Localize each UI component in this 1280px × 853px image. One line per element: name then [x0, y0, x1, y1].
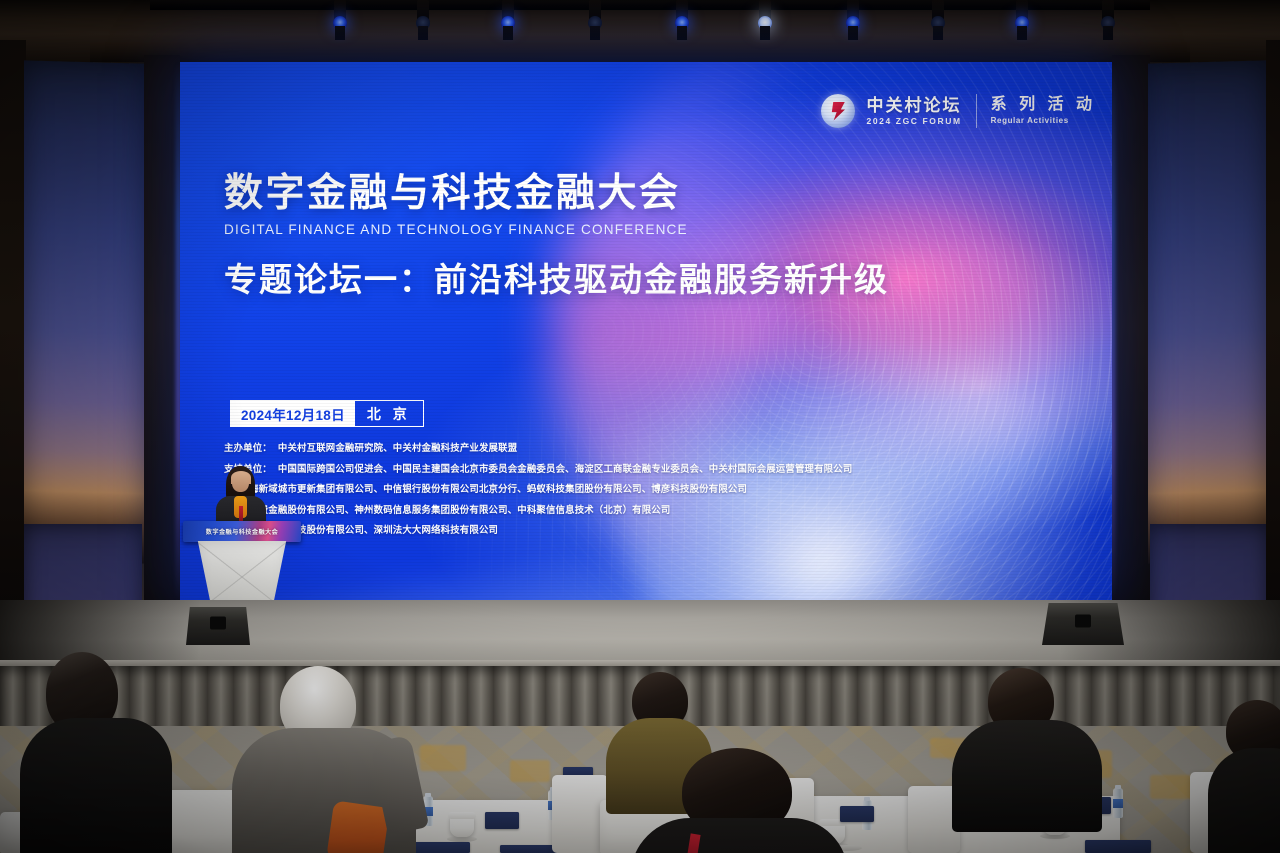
wall-column-left-outer [0, 40, 26, 660]
conference-photo-scene: 中关村论坛 2024 ZGC FORUM 系 列 活 动 Regular Act… [0, 0, 1280, 853]
organizer-label: 主办单位： [224, 442, 272, 453]
logo-divider [976, 94, 977, 128]
carpet-pattern [420, 745, 466, 771]
audience-torso [630, 818, 848, 853]
audience-person [20, 652, 180, 853]
wall-column-left-inner [144, 55, 180, 655]
stage-light-icon [672, 0, 692, 38]
conference-title-block: 数字金融与科技金融大会 DIGITAL FINANCE AND TECHNOLO… [224, 174, 889, 301]
stage-light-icon [1098, 0, 1118, 38]
stage-light-icon [330, 0, 350, 38]
organizer-line: 北京海新域城市更新集团有限公司、中信银行股份有限公司北京分行、蚂蚁科技集团股份有… [224, 481, 852, 495]
name-card [485, 812, 519, 829]
audience-torso [952, 720, 1102, 832]
wall-column-right-inner [1112, 55, 1150, 655]
led-stage-screen: 中关村论坛 2024 ZGC FORUM 系 列 活 动 Regular Act… [180, 62, 1112, 602]
water-bottle [1113, 788, 1123, 818]
speaker-lanyard [239, 506, 243, 522]
teacup [450, 815, 474, 837]
organizer-line: 马上消费金融股份有限公司、神州数码信息服务集团股份有限公司、中科聚信信息技术（北… [224, 502, 852, 516]
wall-panel-left [24, 60, 144, 563]
zgc-logo-cn: 中关村论坛 [867, 97, 962, 114]
conference-subtitle-cn: 专题论坛一：前沿科技驱动金融服务新升级 [224, 253, 889, 301]
speaker-head [232, 472, 249, 492]
wall-panel-right [1148, 60, 1266, 563]
organizer-value: 中国国际跨国公司促进会、中国民主建国会北京市委员会金融委员会、海淀区工商联金融专… [278, 463, 853, 474]
lighting-truss [150, 0, 1150, 10]
stage-light-icon [498, 0, 518, 38]
organizer-line: 主办单位：中关村互联网金融研究院、中关村金融科技产业发展联盟 [224, 440, 852, 454]
audience-torso [20, 718, 172, 853]
zgc-secondary-en: Regular Activities [991, 117, 1096, 125]
organizer-value: 北京海新域城市更新集团有限公司、中信银行股份有限公司北京分行、蚂蚁科技集团股份有… [230, 483, 747, 494]
zgc-secondary-cn: 系 列 活 动 [991, 97, 1096, 113]
zgc-primary-text: 中关村论坛 2024 ZGC FORUM [867, 97, 962, 126]
organizer-list: 主办单位：中关村互联网金融研究院、中关村金融科技产业发展联盟 支持单位：中国国际… [224, 440, 852, 536]
event-city: 北 京 [355, 401, 423, 426]
organizer-value: 马上消费金融股份有限公司、神州数码信息服务集团股份有限公司、中科聚信信息技术（北… [230, 504, 670, 515]
speaker-person [205, 466, 277, 526]
audience-person [950, 668, 1110, 828]
stage-light-icon [585, 0, 605, 38]
carpet-pattern [1150, 775, 1194, 799]
date-location-badge: 2024年12月18日 北 京 [230, 400, 424, 427]
event-date: 2024年12月18日 [231, 401, 355, 426]
carpet-pattern [510, 760, 550, 782]
stage-light-icon [413, 0, 433, 38]
zgc-secondary-text: 系 列 活 动 Regular Activities [991, 97, 1096, 125]
ceiling-beam [90, 42, 1190, 62]
audience-person [630, 748, 850, 853]
audience-scarf [326, 800, 390, 853]
stage-light-icon [1012, 0, 1032, 38]
audience-torso [1208, 748, 1280, 853]
conference-title-cn: 数字金融与科技金融大会 [224, 174, 889, 215]
speaker-grille [1075, 614, 1091, 627]
zgc-logo-en: 2024 ZGC FORUM [867, 117, 962, 126]
audience-person [1208, 700, 1280, 853]
stage-light-icon [843, 0, 863, 38]
stage-light-icon [755, 0, 775, 38]
stage-monitor-speaker [186, 607, 250, 645]
zgc-forum-logo: 中关村论坛 2024 ZGC FORUM 系 列 活 动 Regular Act… [821, 94, 1096, 128]
conference-title-en: DIGITAL FINANCE AND TECHNOLOGY FINANCE C… [224, 222, 889, 237]
organizer-line: 支持单位：中国国际跨国公司促进会、中国民主建国会北京市委员会金融委员会、海淀区工… [224, 461, 852, 475]
audience-person [228, 666, 418, 853]
podium-banner: 数字金融与科技金融大会 [183, 521, 301, 542]
organizer-value: 中关村互联网金融研究院、中关村金融科技产业发展联盟 [278, 442, 517, 453]
name-card [1085, 840, 1151, 853]
zgc-flame-icon [821, 94, 855, 128]
stage-light-icon [928, 0, 948, 38]
stage-monitor-speaker [1042, 603, 1124, 645]
organizer-line: 上海合合信息科技股份有限公司、深圳法大大网络科技有限公司 [224, 522, 852, 536]
wall-column-right-outer [1266, 40, 1280, 660]
speaker-grille [210, 616, 226, 629]
podium-banner-text: 数字金融与科技金融大会 [206, 527, 278, 536]
